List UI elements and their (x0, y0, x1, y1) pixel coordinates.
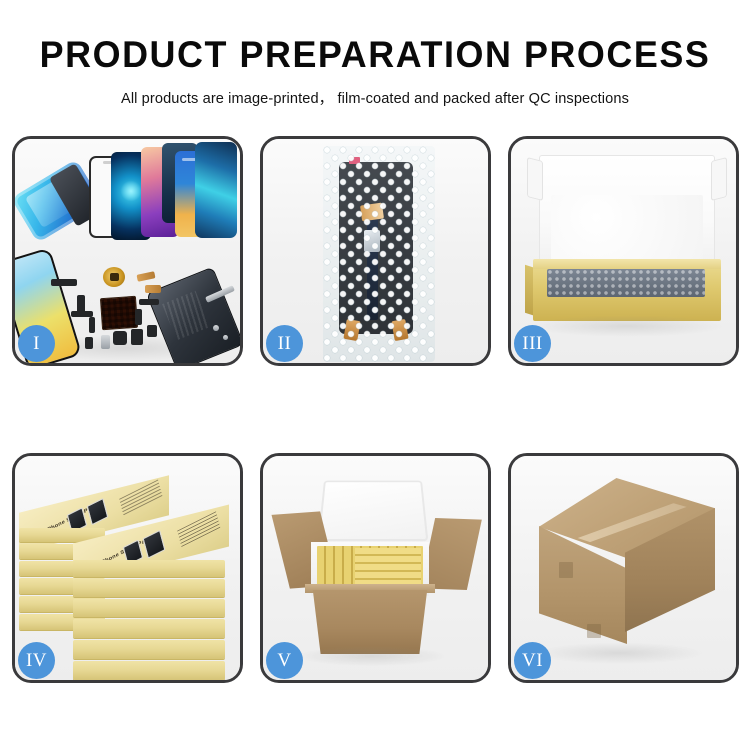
part-button-flex (85, 337, 93, 349)
part-connector-3 (89, 317, 95, 333)
part-flex-cable-3 (139, 299, 159, 305)
ground-shadow (527, 315, 727, 337)
header: PRODUCT PREPARATION PROCESS All products… (0, 0, 750, 108)
part-screw-2 (223, 335, 228, 340)
step-panel-2: II (260, 136, 491, 366)
step-panel-4: Mobile Phone Spare Parts Mobile Phone Sp… (12, 453, 243, 683)
bubble-wrapped-contents (547, 269, 705, 297)
white-foam-sheet (551, 195, 703, 269)
box-layer-r1 (73, 560, 225, 577)
sealed-shipping-carton (531, 478, 723, 656)
phone-cyan-wallpaper (195, 142, 237, 238)
product-preparation-infographic: PRODUCT PREPARATION PROCESS All products… (0, 0, 750, 750)
step-panel-3: III (508, 136, 739, 366)
part-flex-cable-2 (145, 285, 161, 293)
step-badge-2: II (266, 325, 303, 362)
part-flex-cable-4 (135, 309, 142, 325)
step-panel-1: I (12, 136, 243, 366)
page-title: PRODUCT PREPARATION PROCESS (11, 36, 739, 73)
screws-tray-part (100, 296, 138, 330)
box-spec-lines-1 (119, 480, 163, 518)
part-speaker-module (113, 331, 127, 345)
step-panel-6: VI (508, 453, 739, 683)
speaker-coil-part (103, 267, 125, 287)
page-subtitle: All products are image-printed， film-coa… (0, 87, 750, 108)
part-flex-cable-1 (136, 271, 155, 282)
step-badge-3: III (514, 325, 551, 362)
box-thumbnail-2 (87, 498, 109, 525)
steps-grid: I II (12, 136, 738, 683)
box-thumbnail-4 (143, 530, 166, 559)
ground-shadow (535, 642, 705, 664)
box-layer-r4 (73, 619, 225, 638)
carton-seam-patch-2 (587, 624, 601, 638)
step-badge-5: V (266, 642, 303, 679)
foam-board-lid (318, 481, 429, 542)
part-vibrator-motor (101, 335, 110, 349)
box-layer-r6 (73, 661, 225, 680)
part-camera-module (131, 329, 143, 345)
ground-shadow (297, 646, 447, 666)
part-screw-1 (213, 325, 219, 331)
part-earpiece-mesh (51, 279, 77, 286)
step-panel-5: V (260, 453, 491, 683)
step-badge-4: IV (18, 642, 55, 679)
carton-flap-right (420, 518, 482, 590)
carton-front-wall (305, 590, 435, 654)
step-badge-1: I (18, 325, 55, 362)
step-badge-6: VI (514, 642, 551, 679)
kraft-tray-lip (533, 259, 721, 269)
box-layer-r3 (73, 599, 225, 617)
box-spec-lines-2 (177, 511, 221, 549)
box-layer-r5 (73, 640, 225, 659)
bubble-wrap-bag (323, 146, 435, 362)
box-layer-r2 (73, 579, 225, 597)
yellow-boxes-row-2 (355, 548, 421, 588)
part-sim-tray (147, 325, 157, 337)
bubble-texture-overlay (323, 146, 435, 362)
carton-seam-patch-1 (559, 562, 573, 578)
